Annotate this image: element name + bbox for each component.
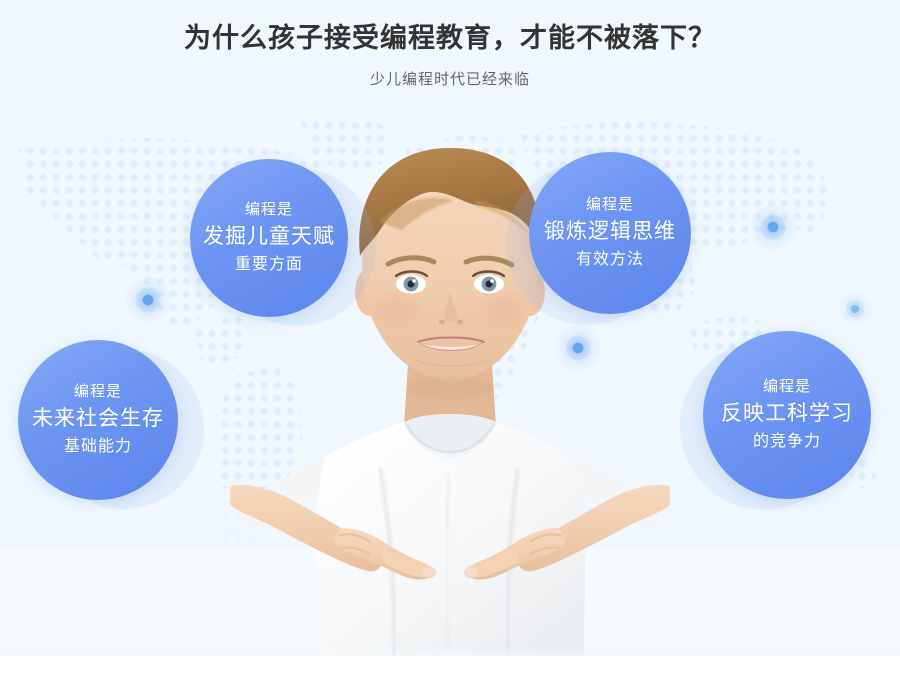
map-pin-icon [125,277,171,323]
bubble-engineering-line2: 反映工科学习 [721,398,853,430]
map-pin-icon [750,204,796,250]
bubble-logic-line2: 锻炼逻辑思维 [544,216,676,248]
bubble-survival-line1: 编程是 [74,381,122,403]
bubble-engineering[interactable]: 编程是 反映工科学习 的竞争力 [703,331,871,499]
bubble-logic[interactable]: 编程是 锻炼逻辑思维 有效方法 [529,152,691,314]
bubble-survival-line2: 未来社会生存 [32,403,164,435]
hero-heading-block: 为什么孩子接受编程教育，才能不被落下？ 少儿编程时代已经来临 [0,0,900,91]
page-subtitle: 少儿编程时代已经来临 [0,69,900,91]
bubble-logic-line3: 有效方法 [576,248,644,272]
bubble-talent-line2: 发掘儿童天赋 [203,221,335,253]
bubble-logic-line1: 编程是 [586,194,634,216]
map-pin-icon [555,325,601,371]
bubble-survival-line3: 基础能力 [64,435,132,459]
bubble-survival[interactable]: 编程是 未来社会生存 基础能力 [18,340,178,500]
bubble-talent-line3: 重要方面 [235,253,303,277]
bubble-talent[interactable]: 编程是 发掘儿童天赋 重要方面 [190,159,348,317]
page-title: 为什么孩子接受编程教育，才能不被落下？ [0,18,900,58]
bubble-talent-line1: 编程是 [245,199,293,221]
bubble-engineering-line3: 的竞争力 [753,430,821,454]
hero-section: 为什么孩子接受编程教育，才能不被落下？ 少儿编程时代已经来临 [0,0,900,686]
map-pin-icon [838,292,872,326]
bottom-white-band [0,656,900,686]
bubble-engineering-line1: 编程是 [763,376,811,398]
